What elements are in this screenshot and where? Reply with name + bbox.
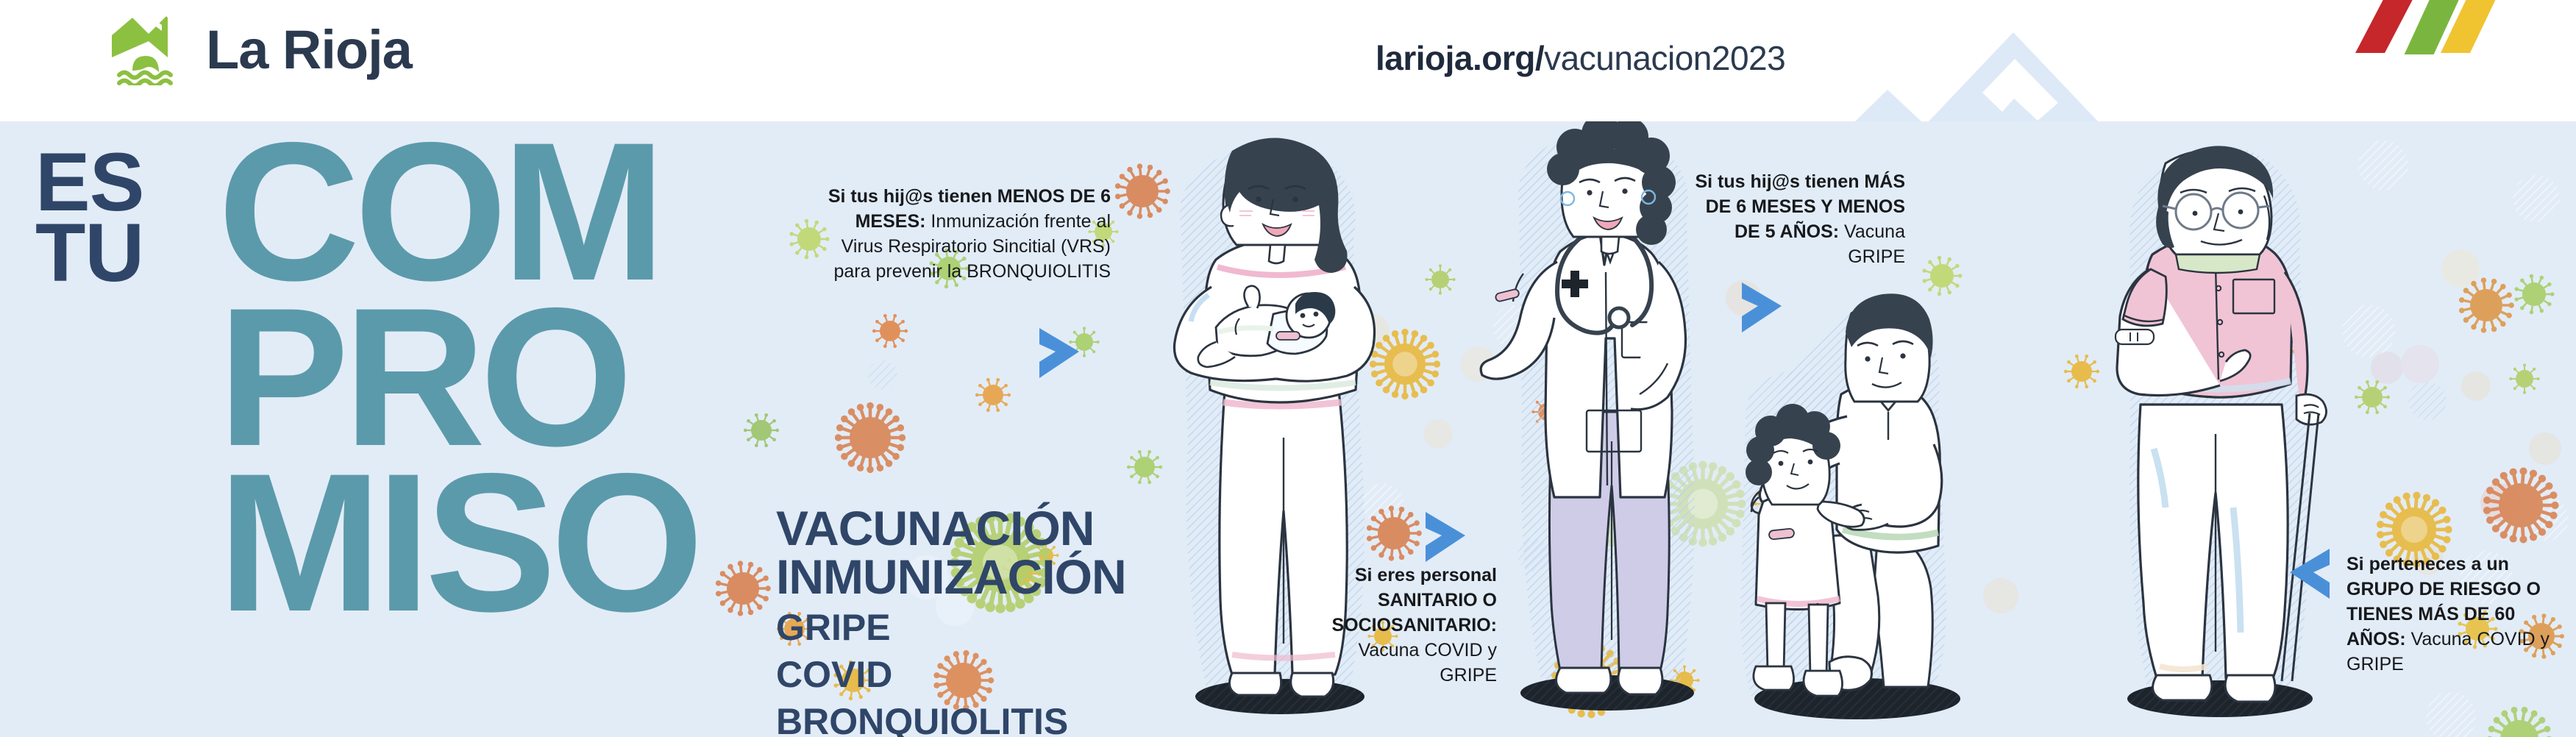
url-slash: / bbox=[1535, 39, 1544, 77]
campaign-covid: COVID bbox=[776, 654, 1126, 695]
mountain-river-logo-icon bbox=[110, 15, 187, 85]
callout-personal-sanitario: Si eres personal SANITARIO O SOCIOSANITA… bbox=[1302, 563, 1497, 688]
campaign-vacunacion: VACUNACIÓN bbox=[776, 504, 1126, 552]
campaign-url[interactable]: larioja.org/vacunacion2023 bbox=[1376, 38, 1785, 78]
father-kneeling-with-child-illustration bbox=[1710, 287, 1975, 732]
la-rioja-flag-stripes-icon bbox=[2355, 0, 2510, 54]
headline-tu: TU bbox=[35, 218, 143, 288]
callout-2-rest: Vacuna COVID y GRIPE bbox=[1358, 640, 1497, 686]
chevron-left-icon bbox=[2284, 544, 2335, 603]
campaign-inmunizacion: INMUNIZACIÓN bbox=[776, 552, 1126, 601]
campaign-bronquiolitis: BRONQUIOLITIS bbox=[776, 701, 1126, 737]
chevron-right-icon bbox=[1033, 324, 1085, 382]
mountain-outline-icon bbox=[1824, 22, 2192, 121]
chevron-right-icon bbox=[1736, 278, 1787, 337]
callout-grupo-riesgo: Si perteneces a un GRUPO DE RIESGO O TIE… bbox=[2346, 552, 2567, 677]
la-rioja-wordmark: La Rioja bbox=[206, 23, 412, 77]
chevron-right-icon bbox=[1420, 508, 1471, 566]
callout-menos-6-meses: Si tus hij@s tienen MENOS DE 6 MESES: In… bbox=[824, 184, 1111, 284]
elderly-man-with-cane-illustration bbox=[2089, 125, 2354, 732]
headline-compromiso: COM PRO MISO bbox=[218, 129, 698, 625]
callout-mas-6-meses: Si tus hij@s tienen MÁS DE 6 MESES Y MEN… bbox=[1684, 169, 1905, 269]
la-rioja-logo[interactable]: La Rioja bbox=[110, 15, 412, 85]
callout-2-bold: Si eres personal SANITARIO O SOCIOSANITA… bbox=[1331, 565, 1497, 635]
campaign-title-block: VACUNACIÓN INMUNIZACIÓN GRIPE COVID BRON… bbox=[776, 504, 1126, 737]
url-path: vacunacion2023 bbox=[1544, 39, 1785, 77]
callout-3-rest: Vacuna GRIPE bbox=[1839, 221, 1905, 267]
campaign-gripe: GRIPE bbox=[776, 607, 1126, 648]
page-header: La Rioja larioja.org/vacunacion2023 bbox=[0, 0, 2576, 121]
vaccination-campaign-banner: ES TU COM PRO MISO VACUNACIÓN INMUNIZACI… bbox=[0, 0, 2576, 737]
headline-prefix: ES TU bbox=[35, 147, 143, 289]
url-domain: larioja.org bbox=[1376, 39, 1535, 77]
headline-miso: MISO bbox=[218, 460, 698, 625]
